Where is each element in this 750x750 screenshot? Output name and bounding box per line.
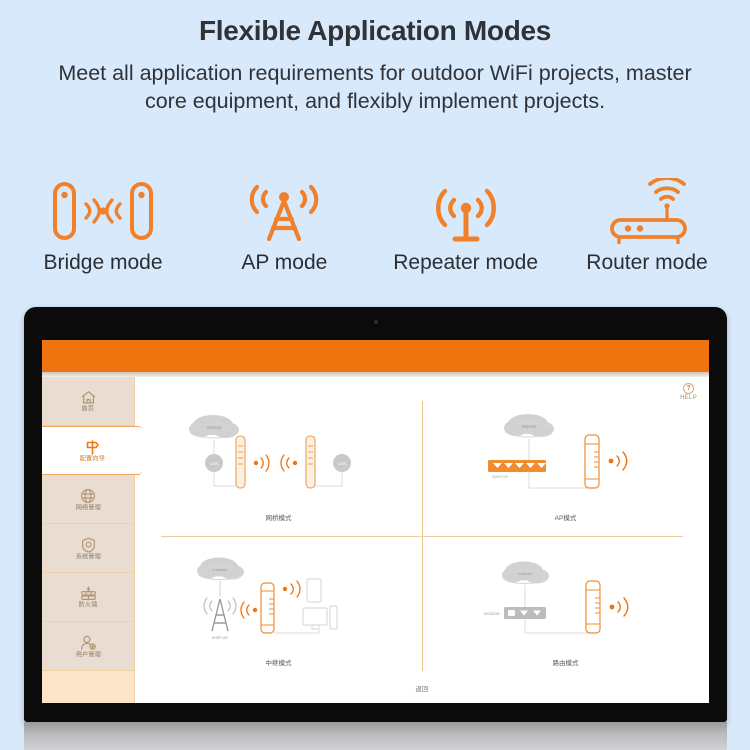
mode-item-ap: AP mode bbox=[195, 175, 373, 275]
mode-label: Bridge mode bbox=[14, 251, 192, 275]
web-ui-sidebar: 首页 配置向导 bbox=[42, 377, 134, 703]
mode-label: AP mode bbox=[195, 251, 373, 275]
hero-section: Flexible Application Modes Meet all appl… bbox=[0, 0, 750, 116]
svg-text:SWITCH: SWITCH bbox=[492, 474, 508, 479]
sidebar-item-label: 网络管理 bbox=[75, 503, 100, 511]
shield-icon bbox=[81, 537, 96, 553]
sidebar-item-label: 用户管理 bbox=[75, 650, 100, 658]
web-ui-main: ? HELP bbox=[134, 377, 709, 703]
tablet-device: 首页 配置向导 bbox=[24, 307, 727, 722]
sidebar-item-label: 首页 bbox=[82, 405, 95, 413]
mode-diagram-grid: Internet LAN bbox=[135, 391, 709, 681]
home-icon bbox=[80, 390, 97, 405]
diagram-label: AP模式 bbox=[555, 512, 577, 522]
device-stand bbox=[24, 722, 727, 750]
mode-item-router: Router mode bbox=[558, 175, 736, 275]
device-screen: 首页 配置向导 bbox=[42, 340, 709, 703]
diagram-label: 路由模式 bbox=[553, 657, 579, 667]
diagram-cell-repeater[interactable]: Internet bbox=[135, 536, 422, 681]
svg-text:Internet: Internet bbox=[518, 571, 532, 576]
page-title: Flexible Application Modes bbox=[0, 14, 750, 48]
sidebar-item-user-management[interactable]: 用户管理 bbox=[42, 622, 134, 671]
bridge-icon bbox=[14, 175, 192, 247]
router-icon bbox=[558, 175, 736, 247]
svg-text:MODEM: MODEM bbox=[484, 611, 499, 616]
diagram-cell-ap[interactable]: Internet SWITCH bbox=[422, 391, 709, 536]
mode-label: Repeater mode bbox=[377, 251, 555, 275]
camera-icon bbox=[374, 320, 378, 324]
diagram-label: 网桥模式 bbox=[266, 512, 292, 522]
sidebar-item-label: 防火墙 bbox=[78, 601, 97, 609]
page-subtitle: Meet all application requirements for ou… bbox=[0, 59, 750, 116]
sidebar-item-label: 配置向导 bbox=[79, 455, 104, 463]
sidebar-item-network-management[interactable]: 网络管理 bbox=[42, 475, 134, 524]
diagram-label: 中继模式 bbox=[266, 657, 292, 667]
svg-text:Internet: Internet bbox=[206, 425, 221, 430]
signpost-icon bbox=[84, 439, 101, 455]
sidebar-item-system-management[interactable]: 系统管理 bbox=[42, 524, 134, 573]
repeater-diagram: Internet bbox=[179, 551, 379, 655]
router-diagram: Internet MODEM bbox=[466, 551, 666, 655]
svg-text:LAN: LAN bbox=[209, 461, 218, 466]
repeater-icon bbox=[377, 175, 555, 247]
diagram-cell-router[interactable]: Internet MODEM bbox=[422, 536, 709, 681]
sidebar-item-home[interactable]: 首页 bbox=[42, 377, 134, 426]
web-ui-body: 首页 配置向导 bbox=[42, 377, 709, 703]
diagram-cell-bridge[interactable]: Internet LAN bbox=[135, 391, 422, 536]
sidebar-item-setup-wizard[interactable]: 配置向导 bbox=[42, 426, 142, 475]
svg-text:LAN: LAN bbox=[337, 461, 346, 466]
bridge-diagram: Internet LAN bbox=[179, 406, 379, 510]
ap-tower-icon bbox=[195, 175, 373, 247]
mode-item-bridge: Bridge mode bbox=[14, 175, 192, 275]
mode-item-repeater: Repeater mode bbox=[377, 175, 555, 275]
firewall-icon bbox=[80, 586, 97, 601]
mode-list: Bridge mode bbox=[0, 175, 750, 275]
globe-icon bbox=[80, 488, 96, 504]
svg-text:WISP AP: WISP AP bbox=[211, 635, 228, 640]
mode-label: Router mode bbox=[558, 251, 736, 275]
promo-page: Flexible Application Modes Meet all appl… bbox=[0, 0, 750, 750]
svg-text:Internet: Internet bbox=[521, 424, 536, 429]
web-ui-topbar bbox=[42, 340, 709, 372]
back-button[interactable]: 返回 bbox=[416, 683, 429, 693]
ap-diagram: Internet SWITCH bbox=[466, 406, 666, 510]
sidebar-item-label: 系统管理 bbox=[75, 552, 100, 560]
svg-text:Internet: Internet bbox=[213, 567, 227, 572]
sidebar-item-firewall[interactable]: 防火墙 bbox=[42, 573, 134, 622]
user-icon bbox=[80, 635, 97, 651]
